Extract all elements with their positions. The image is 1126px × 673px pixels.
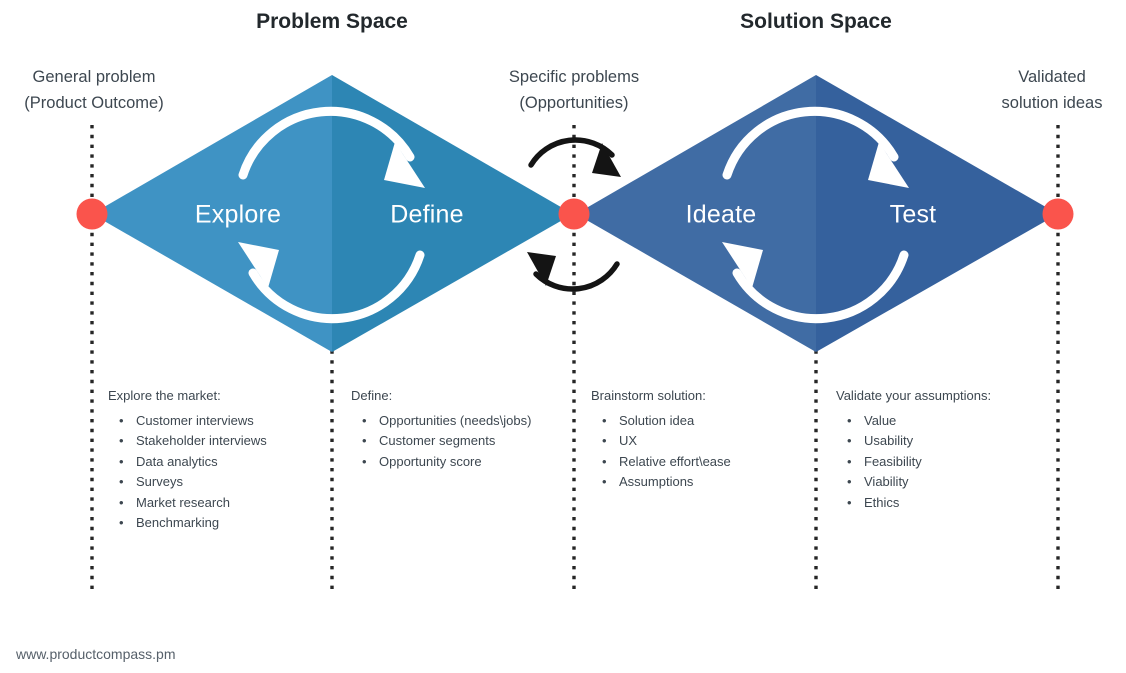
list-item: Ethics [836, 493, 1066, 513]
detail-heading: Define: [351, 387, 581, 405]
endpoint-caption-line1: Specific problems [509, 64, 639, 90]
clockwise-arc-arrowhead-icon [384, 142, 425, 188]
list-item: Stakeholder interviews [108, 431, 338, 451]
endpoint-caption-line2: (Opportunities) [509, 90, 639, 116]
clockwise-arc-arrowhead-icon [868, 142, 909, 188]
detail-block-define: Define: Opportunities (needs\jobs) Custo… [351, 387, 581, 472]
phase-shape-test [816, 75, 1058, 352]
counterclockwise-arc-arrow-icon [737, 255, 904, 319]
list-item: Market research [108, 493, 338, 513]
footer-source-url: www.productcompass.pm [16, 646, 176, 662]
detail-heading: Validate your assumptions: [836, 387, 1066, 405]
space-title-problem: Problem Space [256, 10, 408, 34]
list-item: UX [591, 431, 821, 451]
milestone-dot-icon [1043, 199, 1074, 230]
list-item: Surveys [108, 472, 338, 492]
counterclockwise-arc-arrowhead-icon [722, 242, 763, 288]
double-diamond-diagram: Problem Space Solution Space General pro… [0, 0, 1126, 673]
endpoint-caption-line1: General problem [24, 64, 163, 90]
list-item: Data analytics [108, 452, 338, 472]
list-item: Feasibility [836, 452, 1066, 472]
clockwise-arc-arrow-icon [243, 111, 410, 175]
list-item: Customer interviews [108, 411, 338, 431]
phase-label-test: Test [890, 201, 937, 230]
phase-label-ideate: Ideate [686, 201, 757, 230]
list-item: Relative effort\ease [591, 452, 821, 472]
detail-heading: Explore the market: [108, 387, 338, 405]
endpoint-caption-line2: solution ideas [1002, 90, 1103, 116]
detail-heading: Brainstorm solution: [591, 387, 821, 405]
detail-block-ideate: Brainstorm solution: Solution idea UX Re… [591, 387, 821, 493]
detail-block-explore: Explore the market: Customer interviews … [108, 387, 338, 533]
endpoint-caption-general-problem: General problem (Product Outcome) [24, 64, 163, 116]
endpoint-caption-line1: Validated [1002, 64, 1103, 90]
problem-space-diamond [92, 75, 573, 352]
detail-list: Value Usability Feasibility Viability Et… [836, 411, 1066, 513]
list-item: Benchmarking [108, 513, 338, 533]
counterclockwise-arc-arrowhead-icon [238, 242, 279, 288]
transition-arrows-midpoint [527, 140, 621, 289]
clockwise-arc-arrowhead-icon [592, 143, 621, 177]
list-item: Viability [836, 472, 1066, 492]
list-item: Value [836, 411, 1066, 431]
milestone-dot-icon [77, 199, 108, 230]
milestone-dot-icon [559, 199, 590, 230]
list-item: Solution idea [591, 411, 821, 431]
endpoint-caption-validated-solution: Validated solution ideas [1002, 64, 1103, 116]
phase-label-define: Define [390, 201, 463, 230]
list-item: Assumptions [591, 472, 821, 492]
list-item: Opportunity score [351, 452, 581, 472]
detail-list: Solution idea UX Relative effort\ease As… [591, 411, 821, 493]
clockwise-arc-arrow-icon [531, 140, 612, 165]
detail-list: Opportunities (needs\jobs) Customer segm… [351, 411, 581, 472]
counterclockwise-arc-arrowhead-icon [527, 252, 556, 286]
detail-block-test: Validate your assumptions: Value Usabili… [836, 387, 1066, 513]
counterclockwise-arc-arrow-icon [536, 264, 617, 289]
list-item: Usability [836, 431, 1066, 451]
space-title-solution: Solution Space [740, 10, 892, 34]
detail-list: Customer interviews Stakeholder intervie… [108, 411, 338, 533]
solution-space-diamond [576, 75, 1058, 352]
list-item: Opportunities (needs\jobs) [351, 411, 581, 431]
endpoint-caption-specific-problems: Specific problems (Opportunities) [509, 64, 639, 116]
counterclockwise-arc-arrow-icon [253, 255, 420, 319]
phase-label-explore: Explore [195, 201, 281, 230]
endpoint-caption-line2: (Product Outcome) [24, 90, 163, 116]
clockwise-arc-arrow-icon [727, 111, 894, 175]
list-item: Customer segments [351, 431, 581, 451]
